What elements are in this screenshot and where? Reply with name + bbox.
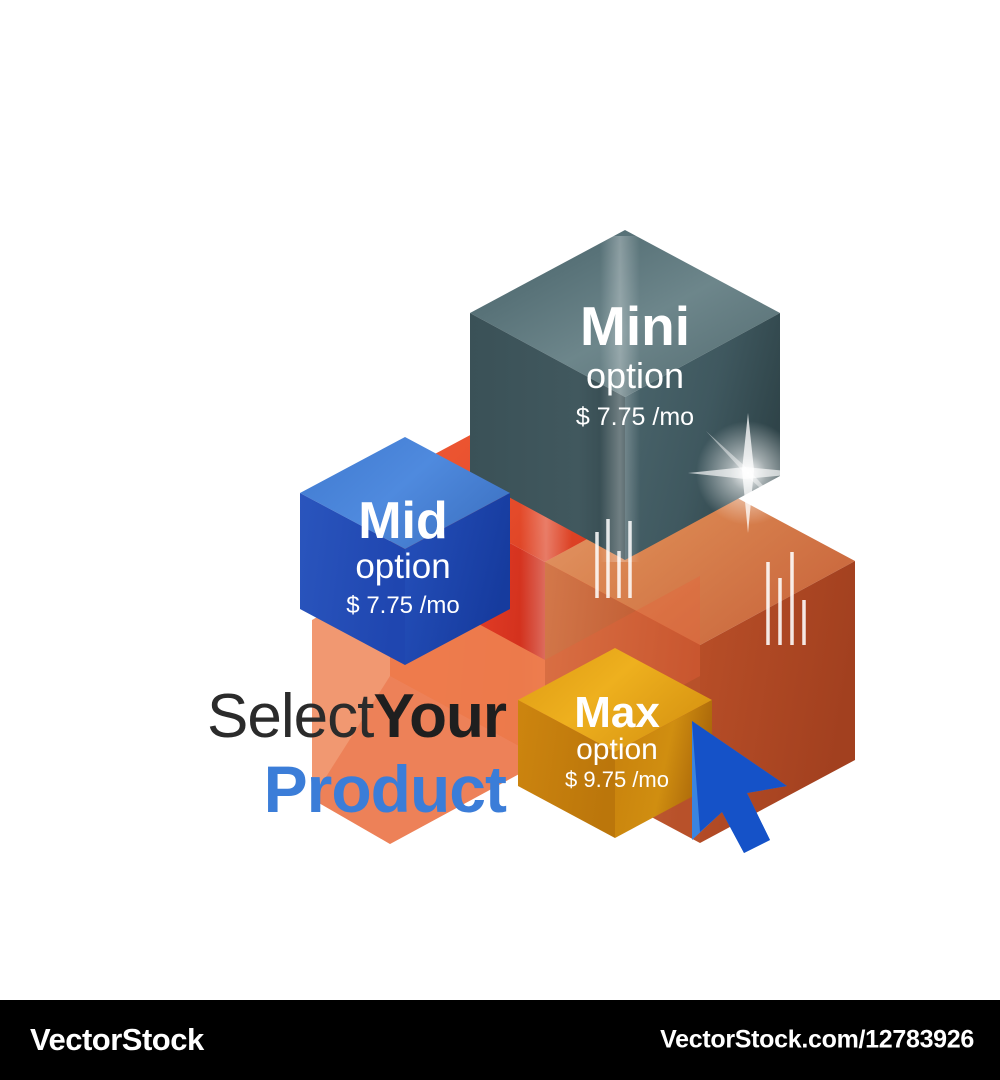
artboard: Mini option $ 7.75 /mo Mid option $ 7.75…: [0, 0, 1000, 1080]
headline-product: Product: [264, 752, 506, 826]
headline-select: Select: [207, 682, 373, 751]
headline-your: Your: [373, 682, 506, 751]
isometric-cubes-svg: Mini option $ 7.75 /mo Mid option $ 7.75…: [0, 0, 1000, 1000]
footer-url: VectorStock.com/12783926: [660, 1026, 974, 1055]
cube-illustration: Mini option $ 7.75 /mo Mid option $ 7.75…: [0, 0, 1000, 1000]
headline-line-1: SelectYour: [0, 686, 520, 748]
headline-line-2: Product: [0, 756, 520, 822]
footer-brand: VectorStock: [30, 1022, 204, 1058]
footer-bar: VectorStock VectorStock.com/12783926: [0, 1000, 1000, 1080]
headline-block: SelectYour Product: [0, 686, 520, 822]
